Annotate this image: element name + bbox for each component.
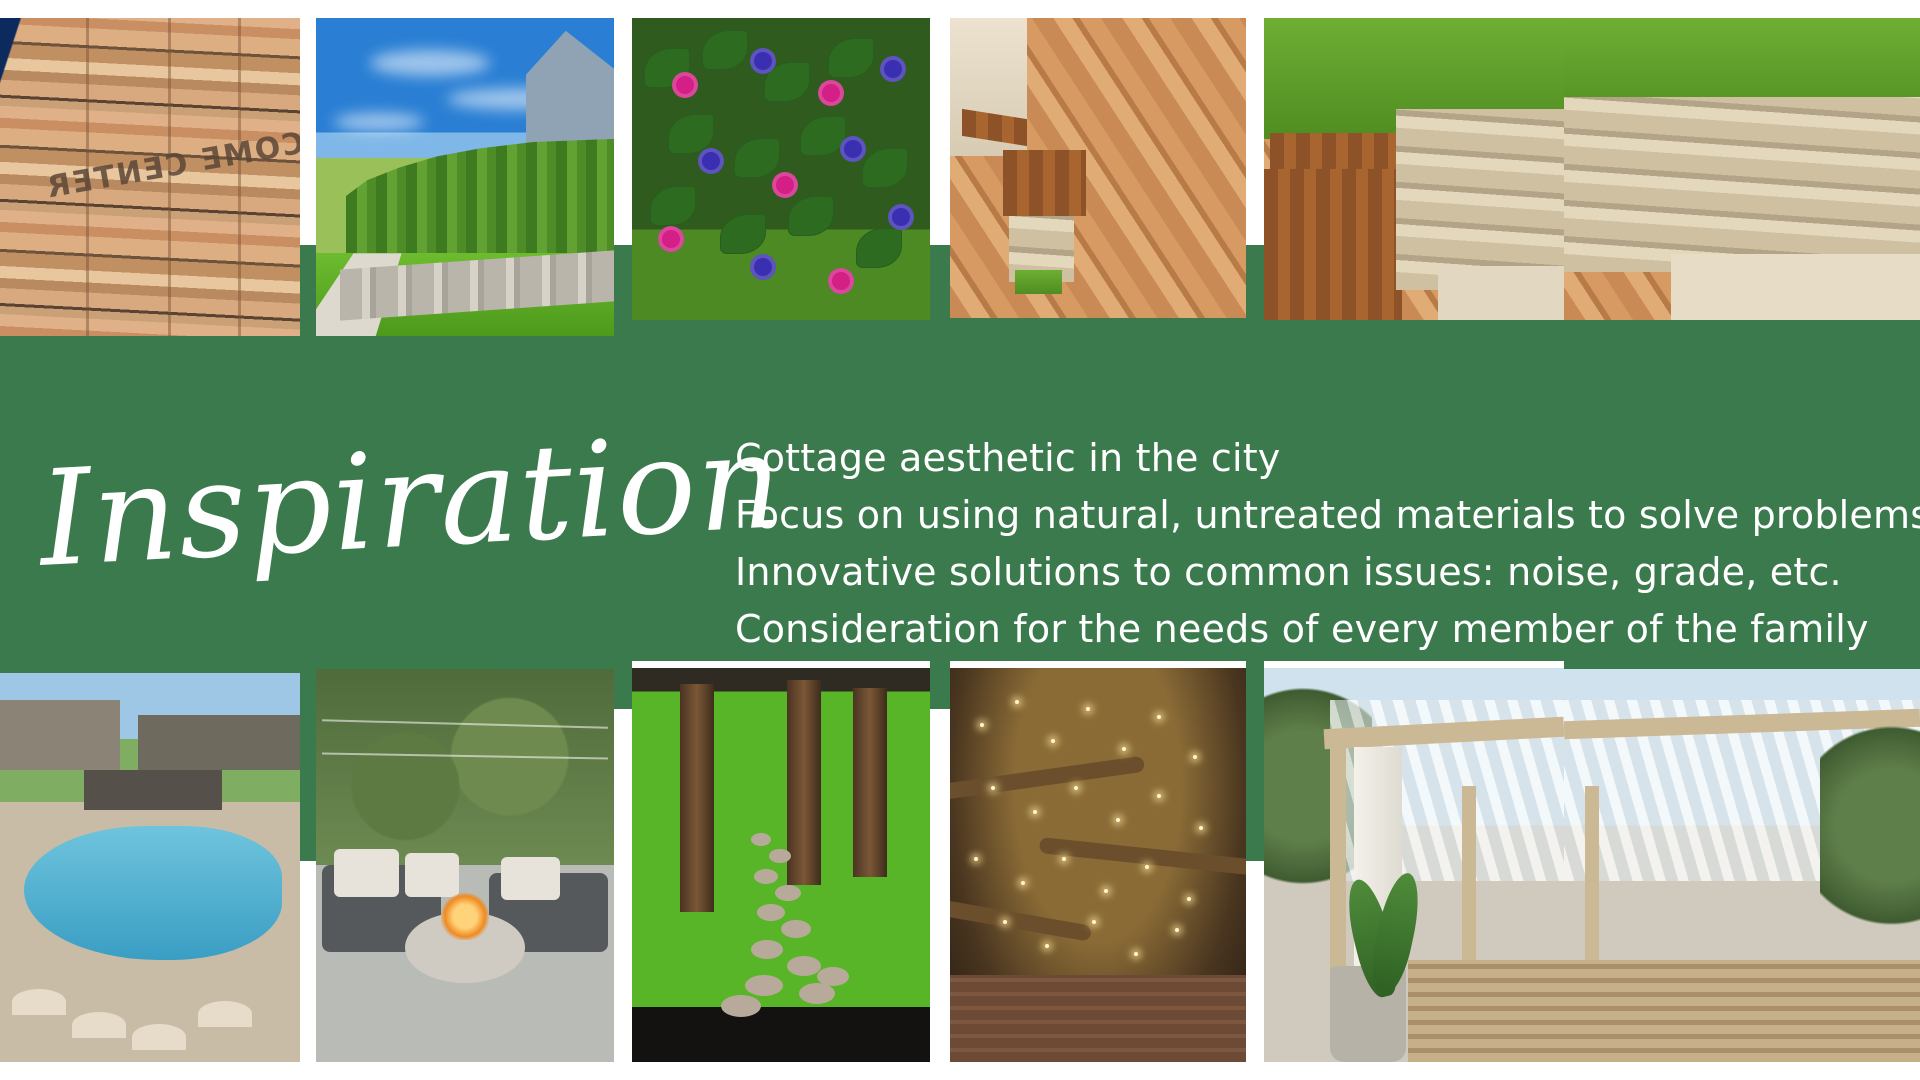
bullet-item-4: Consideration for the needs of every mem… <box>735 601 1905 658</box>
wall-caption-text: SOUTHEAST WYOMING WELCOME CENTER <box>43 37 300 205</box>
photo-top-1: SOUTHEAST WYOMING WELCOME CENTER <box>0 18 300 336</box>
morning-glory-vine-image <box>632 18 930 320</box>
rammed-earth-wall-image: SOUTHEAST WYOMING WELCOME CENTER <box>0 18 300 336</box>
green-above-bottom-1 <box>0 661 300 673</box>
bullet-list: Cottage aesthetic in the city Focus on u… <box>735 430 1905 658</box>
cobblestone-path-image <box>632 668 930 1062</box>
photo-bottom-5 <box>1264 668 1564 1062</box>
photo-bottom-5-extension <box>1564 668 1920 1062</box>
photo-top-5-extension <box>1564 18 1920 320</box>
green-gutter-bottom-4 <box>1246 661 1264 861</box>
deck-steps-extension-image <box>1564 18 1920 320</box>
string-lights-tree-image <box>950 668 1246 1062</box>
arborvitae-hedge-image <box>316 18 614 336</box>
green-gutter-bottom-3 <box>930 661 950 709</box>
green-gutter-top-3 <box>930 245 950 405</box>
green-above-bottom-5 <box>1564 661 1920 669</box>
photo-bottom-2 <box>316 668 614 1062</box>
green-under-top-4 <box>950 318 1246 406</box>
bullet-item-1: Cottage aesthetic in the city <box>735 430 1905 487</box>
photo-top-2 <box>316 18 614 336</box>
green-gutter-top-1 <box>300 245 316 405</box>
slide-canvas: SOUTHEAST WYOMING WELCOME CENTER <box>0 0 1920 1080</box>
bullet-item-3: Innovative solutions to common issues: n… <box>735 544 1905 601</box>
hardwood-deck-image <box>950 18 1246 318</box>
photo-bottom-3 <box>632 668 930 1062</box>
photo-bottom-1 <box>0 668 300 1062</box>
resort-pool-image <box>0 668 300 1062</box>
photo-top-5 <box>1264 18 1564 320</box>
photo-top-3 <box>632 18 930 320</box>
green-above-bottom-2 <box>316 661 614 669</box>
photo-top-4 <box>950 18 1246 318</box>
photo-bottom-4 <box>950 668 1246 1062</box>
green-gutter-top-2 <box>614 245 632 405</box>
pergola-extension-image <box>1564 668 1920 1062</box>
page-title-script: Inspiration <box>34 381 705 645</box>
pergola-patio-image <box>1264 668 1564 1062</box>
green-under-top-5 <box>1264 320 1920 406</box>
deck-steps-stone-wall-image <box>1264 18 1564 320</box>
firepit-lounge-image <box>316 668 614 1062</box>
green-gutter-bottom-2 <box>614 661 632 709</box>
bullet-item-2: Focus on using natural, untreated materi… <box>735 487 1905 544</box>
green-gutter-top-4 <box>1246 245 1264 405</box>
green-gutter-bottom-1 <box>300 661 316 861</box>
